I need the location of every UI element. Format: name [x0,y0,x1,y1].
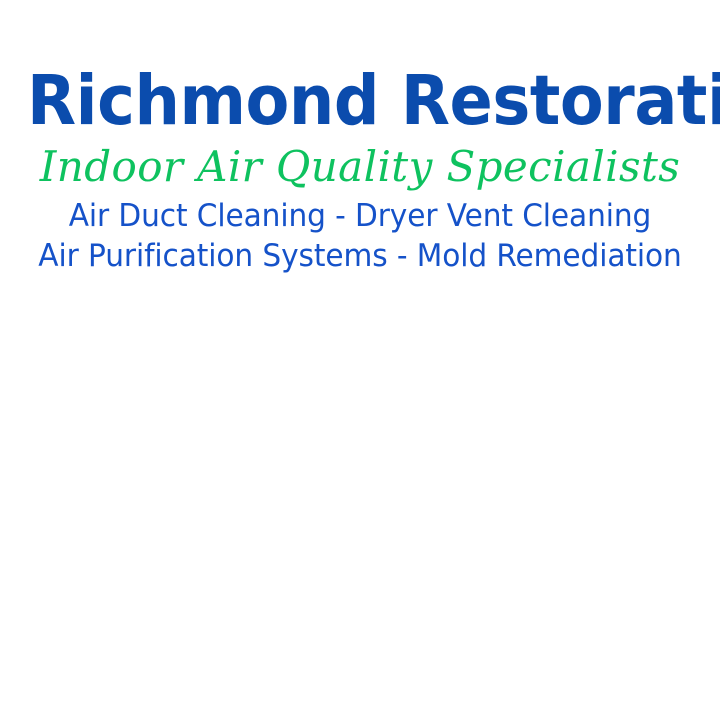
tagline: Indoor Air Quality Specialists [0,142,720,192]
service-line: Air Duct Cleaning - Dryer Vent Cleaning [16,196,704,236]
company-name: Richmond Restoration [27,62,693,140]
service-line: Air Purification Systems - Mold Remediat… [16,236,704,276]
page-canvas: Richmond Restoration Indoor Air Quality … [0,0,720,720]
services-list: Air Duct Cleaning - Dryer Vent Cleaning … [0,196,720,276]
empty-content-area [0,288,720,720]
